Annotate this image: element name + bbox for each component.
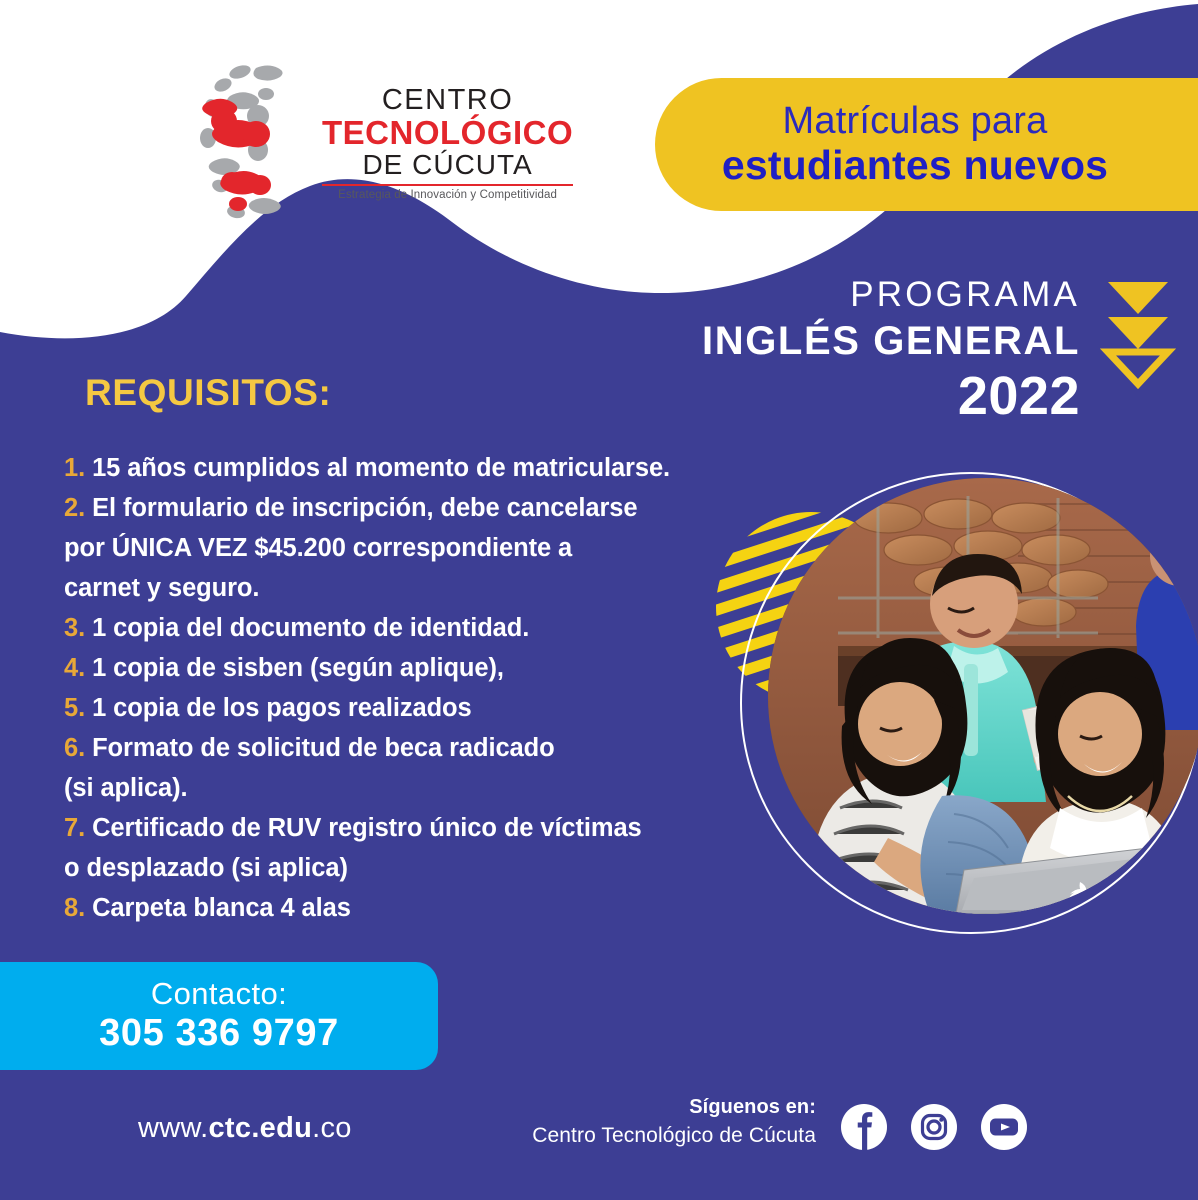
requisito-text: Carpeta blanca 4 alas <box>92 894 351 922</box>
contacto-box[interactable]: Contacto: 305 336 9797 <box>0 962 438 1070</box>
brand-logo: CENTRO TECNOLÓGICO DE CÚCUTA Estrategia … <box>196 55 526 225</box>
program-name: INGLÉS GENERAL <box>702 317 1080 365</box>
requisito-line: 4. 1 copia de sisben (según aplique), <box>64 648 764 688</box>
logo-line-centro: CENTRO <box>322 85 573 115</box>
requisito-line: 5. 1 copia de los pagos realizados <box>64 688 764 728</box>
program-label: PROGRAMA <box>702 274 1080 315</box>
flyer-canvas: CENTRO TECNOLÓGICO DE CÚCUTA Estrategia … <box>0 0 1198 1200</box>
follow-block: Síguenos en: Centro Tecnológico de Cúcut… <box>516 1095 816 1149</box>
program-year: 2022 <box>702 368 1080 425</box>
contacto-phone-number[interactable]: 305 336 9797 <box>99 1012 339 1056</box>
requisitos-heading: REQUISITOS: <box>85 372 331 414</box>
requisito-line: 3. 1 copia del documento de identidad. <box>64 608 764 648</box>
requisito-text: o desplazado (si aplica) <box>64 854 348 882</box>
requisito-line: carnet y seguro. <box>64 568 764 608</box>
requisito-text: carnet y seguro. <box>64 574 259 602</box>
requisito-line: por ÚNICA VEZ $45.200 correspondiente a <box>64 528 764 568</box>
students-photo <box>768 478 1198 914</box>
requisito-number: 8. <box>64 894 85 922</box>
url-prefix: www. <box>138 1112 209 1144</box>
logo-globe-icon <box>196 58 314 223</box>
logo-divider <box>322 184 573 186</box>
requisito-text: por ÚNICA VEZ $45.200 correspondiente a <box>64 534 572 562</box>
requisito-number: 2. <box>64 494 85 522</box>
requisitos-list: 1. 15 años cumplidos al momento de matri… <box>64 448 764 928</box>
requisito-text: 1 copia del documento de identidad. <box>92 614 529 642</box>
requisito-number: 4. <box>64 654 85 682</box>
website-url[interactable]: www.ctc.edu.co <box>138 1112 352 1145</box>
requisito-text: 1 copia de sisben (según aplique), <box>92 654 504 682</box>
header-banner: Matrículas para estudiantes nuevos <box>655 78 1198 211</box>
social-icons <box>840 1103 1028 1151</box>
requisito-number: 6. <box>64 734 85 762</box>
requisito-text: (si aplica). <box>64 774 188 802</box>
logo-line-de-cucuta: DE CÚCUTA <box>322 150 573 181</box>
requisito-line: 7. Certificado de RUV registro único de … <box>64 808 764 848</box>
youtube-icon[interactable] <box>980 1103 1028 1151</box>
requisito-line: 1. 15 años cumplidos al momento de matri… <box>64 448 764 488</box>
facebook-icon[interactable] <box>840 1103 888 1151</box>
requisito-number: 3. <box>64 614 85 642</box>
instagram-icon[interactable] <box>910 1103 958 1151</box>
requisito-text: 15 años cumplidos al momento de matricul… <box>92 454 670 482</box>
requisito-number: 5. <box>64 694 85 722</box>
url-suffix: .co <box>312 1112 352 1144</box>
program-block: PROGRAMA INGLÉS GENERAL 2022 <box>702 274 1080 425</box>
triple-chevron-down-icon <box>1100 280 1176 390</box>
requisito-text: Formato de solicitud de beca radicado <box>92 734 555 762</box>
requisito-line: 2. El formulario de inscripción, debe ca… <box>64 488 764 528</box>
requisito-line: 8. Carpeta blanca 4 alas <box>64 888 764 928</box>
requisito-line: (si aplica). <box>64 768 764 808</box>
url-main: ctc.edu <box>209 1112 313 1144</box>
logo-line-tecnologico: TECNOLÓGICO <box>322 116 573 151</box>
contacto-label: Contacto: <box>151 977 287 1011</box>
follow-handle: Centro Tecnológico de Cúcuta <box>516 1122 816 1149</box>
follow-label: Síguenos en: <box>516 1095 816 1120</box>
requisito-number: 7. <box>64 814 85 842</box>
requisito-text: 1 copia de los pagos realizados <box>92 694 472 722</box>
requisito-text: Certificado de RUV registro único de víc… <box>92 814 642 842</box>
requisito-line: o desplazado (si aplica) <box>64 848 764 888</box>
banner-line-1: Matrículas para <box>783 100 1048 143</box>
requisito-number: 1. <box>64 454 85 482</box>
requisito-line: 6. Formato de solicitud de beca radicado <box>64 728 764 768</box>
requisito-text: El formulario de inscripción, debe cance… <box>92 494 637 522</box>
banner-line-2: estudiantes nuevos <box>722 143 1108 189</box>
logo-tagline: Estrategia de Innovación y Competitivida… <box>322 189 573 201</box>
